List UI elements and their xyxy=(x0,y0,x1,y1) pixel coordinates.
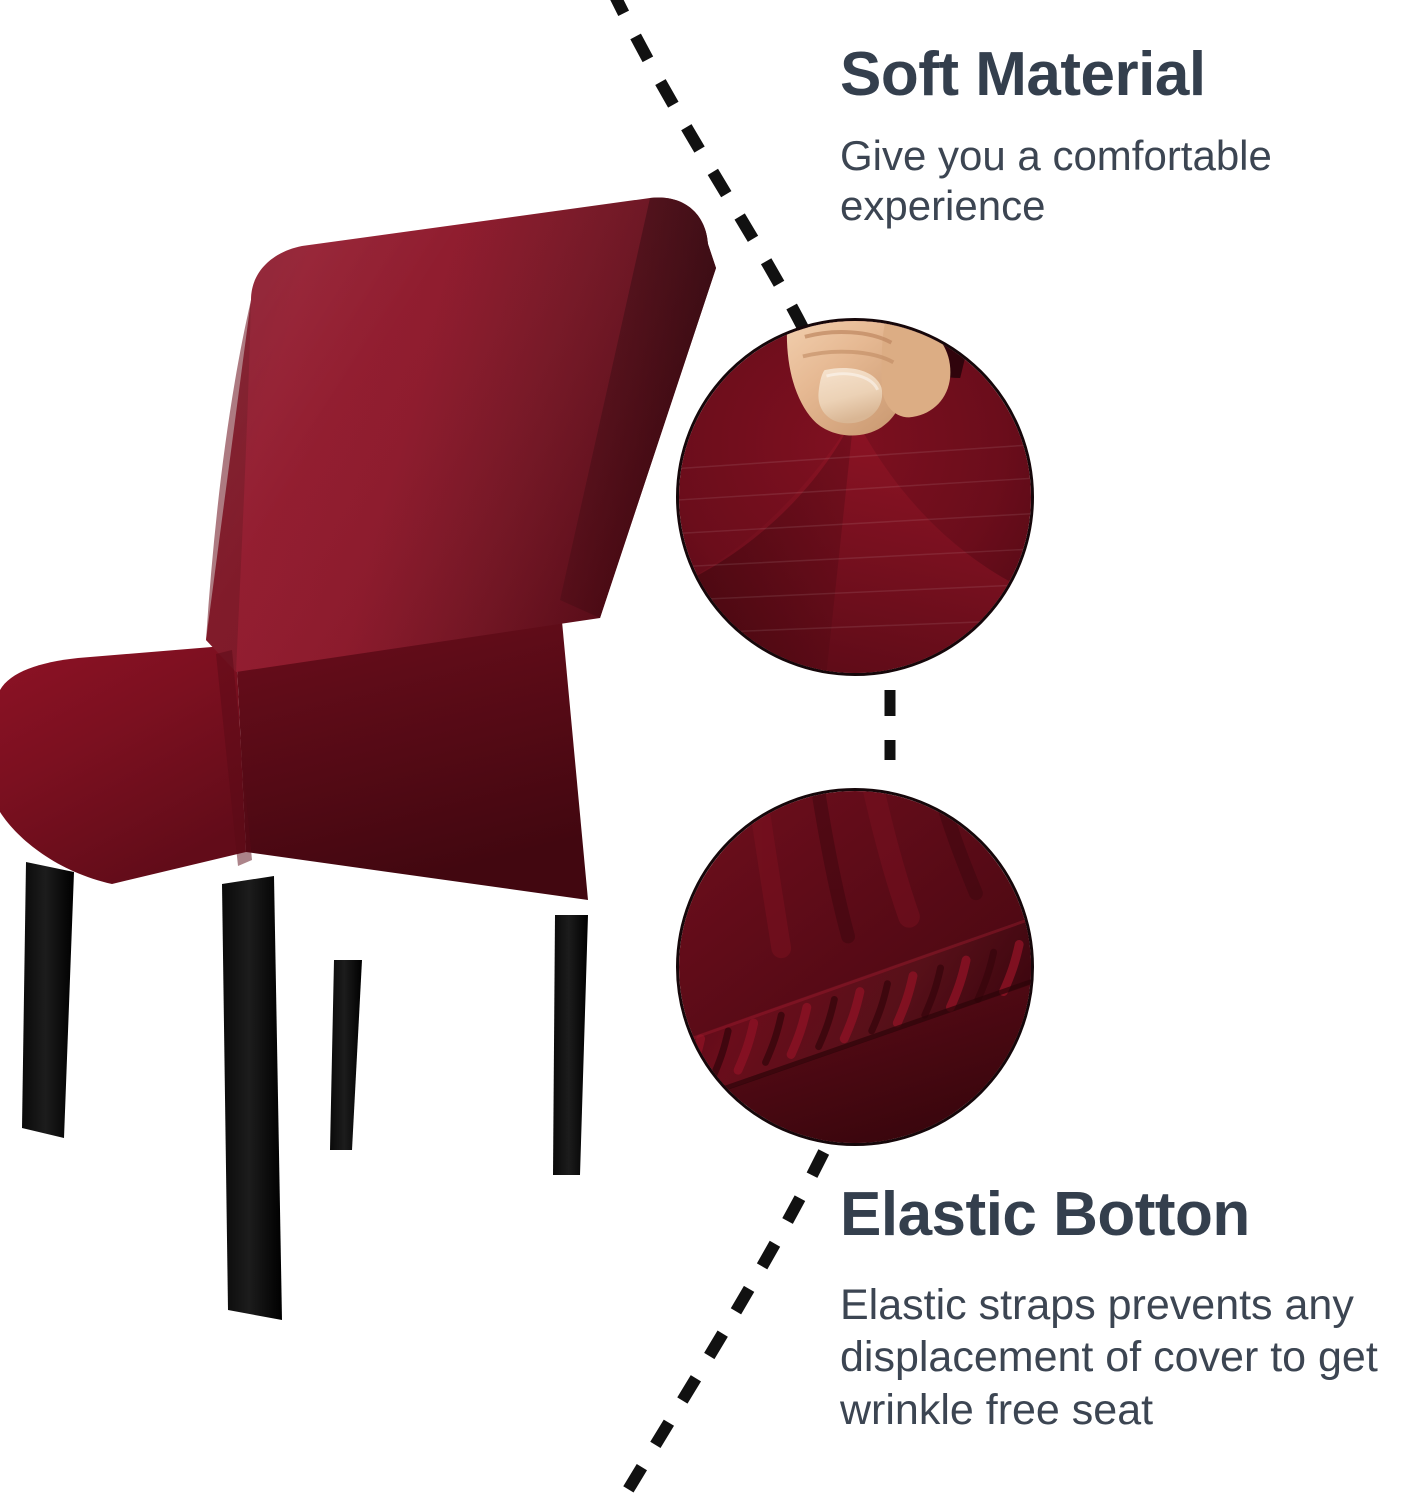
chair-legs-rear xyxy=(330,915,588,1175)
soft-material-body: Give you a comfortable experience xyxy=(840,131,1416,232)
elastic-botton-heading: Elastic Botton xyxy=(840,1182,1416,1249)
elastic-gathered-hem-photo xyxy=(679,791,1031,1143)
soft-material-text-block: Soft Material Give you a comfortable exp… xyxy=(840,42,1416,232)
chair-seat-skirt xyxy=(0,645,246,884)
elastic-botton-text-block: Elastic Botton Elastic straps prevents a… xyxy=(840,1182,1416,1436)
chair-photo xyxy=(0,0,720,1360)
elastic-botton-body: Elastic straps prevents any displacement… xyxy=(840,1279,1416,1436)
soft-material-heading: Soft Material xyxy=(840,42,1416,109)
product-feature-infographic: Soft Material Give you a comfortable exp… xyxy=(0,0,1416,1500)
elastic-botton-detail-circle xyxy=(676,788,1034,1146)
chair-legs-front xyxy=(22,862,282,1320)
chair-illustration xyxy=(0,0,720,1360)
soft-material-detail-circle xyxy=(676,318,1034,676)
chair-backrest-sheen xyxy=(206,197,716,672)
hand-pinching-fabric-photo xyxy=(679,321,1031,673)
